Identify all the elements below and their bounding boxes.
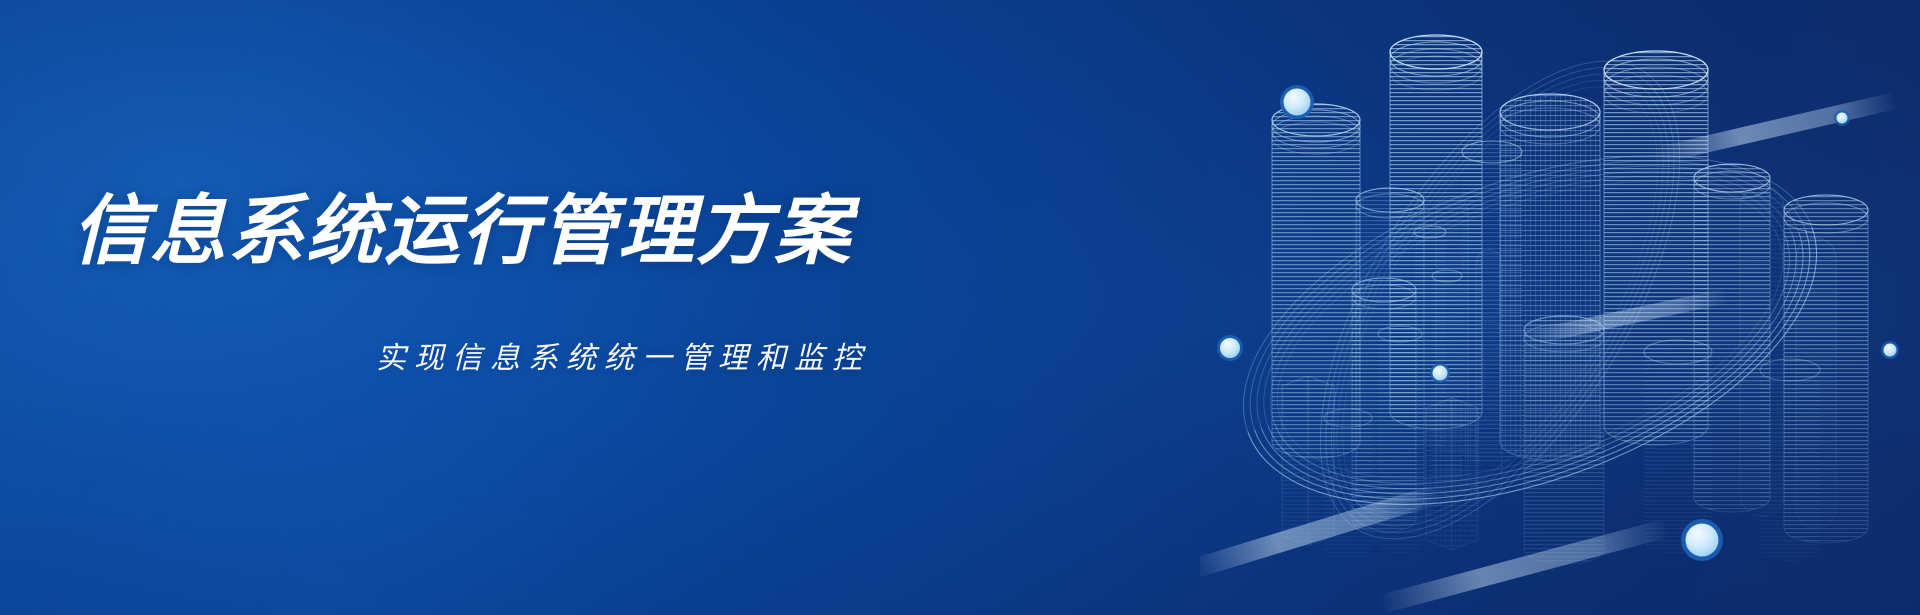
page-subtitle: 实现信息系统统一管理和监控 bbox=[376, 338, 870, 380]
page-title: 信息系统运行管理方案 bbox=[72, 186, 852, 278]
banner-text-block: 信息系统运行管理方案 实现信息系统统一管理和监控 bbox=[0, 0, 1000, 615]
hero-banner: 信息系统运行管理方案 实现信息系统统一管理和监控 bbox=[0, 0, 1920, 615]
